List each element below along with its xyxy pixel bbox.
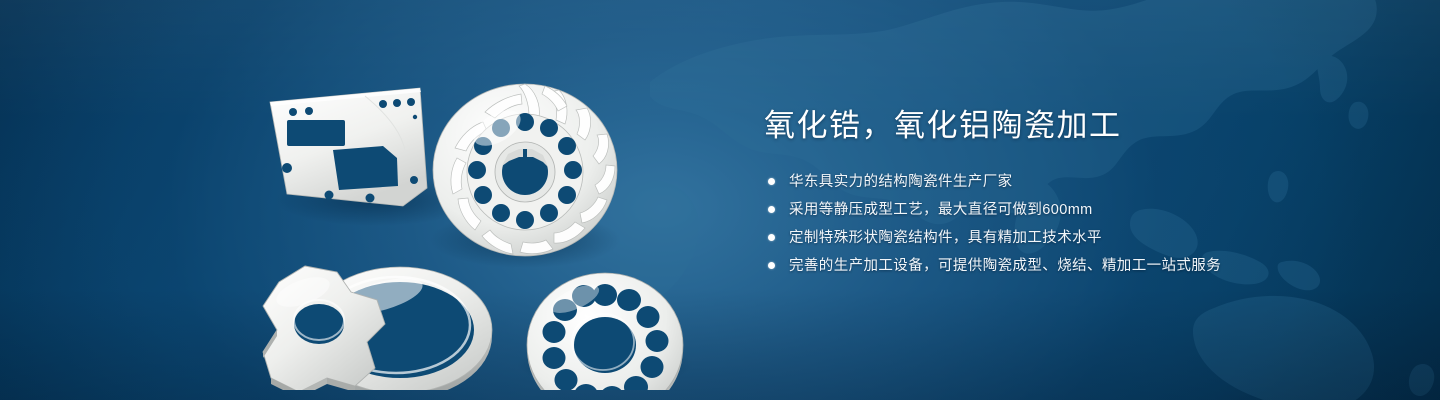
hero-banner: 氧化锆，氧化铝陶瓷加工 华东具实力的结构陶瓷件生产厂家 采用等静压成型工艺，最大… xyxy=(0,0,1440,400)
list-item: 定制特殊形状陶瓷结构件，具有精加工技术水平 xyxy=(764,229,1364,247)
feature-text: 定制特殊形状陶瓷结构件，具有精加工技术水平 xyxy=(789,229,1102,247)
feature-text: 完善的生产加工设备，可提供陶瓷成型、烧结、精加工一站式服务 xyxy=(789,257,1221,275)
bullet-dot-icon xyxy=(768,206,775,213)
ceramic-plate-part xyxy=(270,88,427,206)
page-title: 氧化锆，氧化铝陶瓷加工 xyxy=(764,108,1364,145)
ceramic-products-photo xyxy=(215,40,735,390)
feature-text: 华东具实力的结构陶瓷件生产厂家 xyxy=(789,173,1013,191)
feature-list: 华东具实力的结构陶瓷件生产厂家 采用等静压成型工艺，最大直径可做到600mm 定… xyxy=(764,173,1364,275)
list-item: 华东具实力的结构陶瓷件生产厂家 xyxy=(764,173,1364,191)
feature-text: 采用等静压成型工艺，最大直径可做到600mm xyxy=(789,201,1093,219)
ceramic-perforated-disc-part xyxy=(527,273,683,390)
list-item: 完善的生产加工设备，可提供陶瓷成型、烧结、精加工一站式服务 xyxy=(764,257,1364,275)
bullet-dot-icon xyxy=(768,234,775,241)
bullet-dot-icon xyxy=(768,178,775,185)
list-item: 采用等静压成型工艺，最大直径可做到600mm xyxy=(764,201,1364,219)
ceramic-impeller-part xyxy=(433,84,617,256)
banner-copy: 氧化锆，氧化铝陶瓷加工 华东具实力的结构陶瓷件生产厂家 采用等静压成型工艺，最大… xyxy=(764,108,1364,275)
bullet-dot-icon xyxy=(768,262,775,269)
